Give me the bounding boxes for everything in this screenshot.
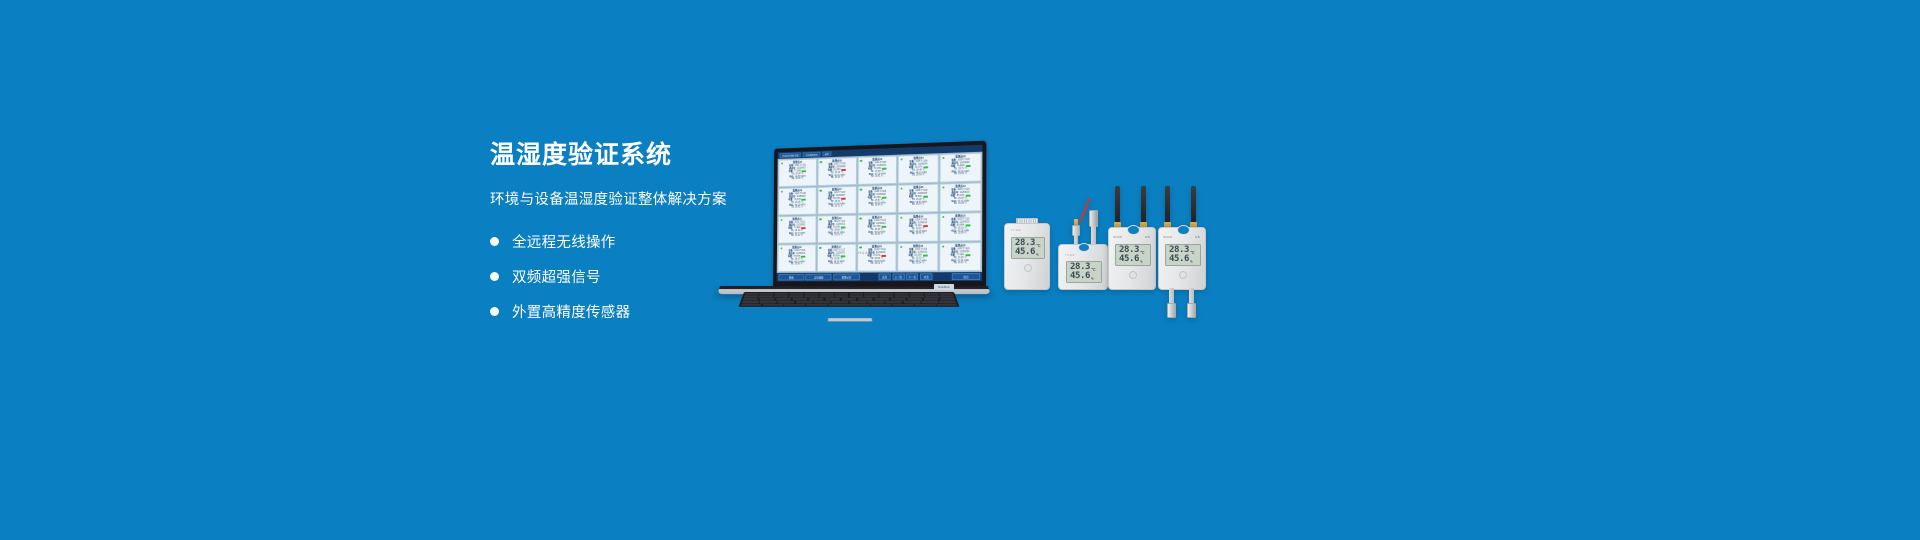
keyboard-key [867,301,884,303]
row-key: T2: [871,205,874,208]
keyboard-key [762,304,783,306]
card-data-row: T2:25.38 ℃ [942,203,979,207]
bullet-icon [490,272,499,281]
humidity-value: 45.6 [1070,272,1090,281]
row-key: T2: [870,263,873,266]
monitoring-card[interactable]: 监测点04设备:1004-TY104通道号:11250004电量:83.17%T… [898,154,939,184]
card-data-row: T2:25.44 ℃ [860,205,895,209]
app-bottom-toolbar: 数据实时曲线报警记录首页上一页下一页末页退出 [777,272,982,281]
topbar-tab-1[interactable]: 历史数据查询 [803,151,820,157]
card-data-row: T2:25.62 ℃ [859,263,894,266]
row-value: 25.22 ℃ [795,207,803,210]
device-power-button[interactable] [1129,271,1137,279]
device-body: INGW MB 28.3 ℃ 45.6 % [1108,227,1156,290]
device-model-tag: INGW [1163,235,1172,239]
monitoring-card[interactable]: 监测点10设备:1010-TY110通道号:11250010电量:84.22%T… [940,182,982,212]
toolbar-button-2[interactable]: 报警记录 [833,274,860,280]
row-key: T2: [954,174,957,177]
row-key: T2: [871,176,874,179]
humidity-value: 45.6 [1169,255,1189,264]
antenna-icon [1141,186,1146,224]
monitoring-card[interactable]: 监测点17设备:1017-TY117通道号:11250017电量:80.91%T… [817,244,856,272]
laptop-trackpad [828,318,873,322]
card-data-row: T2:25.04 ℃ [900,263,936,266]
keyboard-key [759,298,775,300]
keyboard-key [939,301,956,303]
row-key: T2: [830,263,833,266]
humidity-unit: % [1140,260,1142,264]
card-data-row: T2:25.22 ℃ [780,206,814,209]
device-dual-antenna-logger-right: INGW MB 28.3 ℃ 45.6 % [1158,186,1206,318]
row-key: T2: [830,235,833,238]
humidity-value: 45.6 [1015,248,1035,257]
monitoring-card[interactable]: 监测点02设备:1002-TY102通道号:11250002电量:81.05%T… [817,157,856,186]
card-data-row: T2:25.41 ℃ [819,263,854,266]
lcd-humidity-line: 45.6 % [1169,255,1200,264]
keyboard-key [850,301,867,303]
keyboard-key [921,301,938,303]
keyboard-key [825,298,840,300]
device-lcd-display: 28.3 ℃ 45.6 % [1165,244,1201,266]
row-key: T2: [912,175,915,178]
row-key: T2: [791,235,794,238]
card-data-row: T2:25.07 ℃ [900,204,936,208]
device-dual-antenna-logger-left: INGW MB 28.3 ℃ 45.6 % [1108,186,1156,290]
keyboard-key [832,301,849,303]
monitoring-card[interactable]: 监测点13设备:1013-TY113通道号:11250013电量:81.74%T… [857,214,897,243]
keyboard-key [814,301,831,303]
device-body: INGW MB 28.3 ℃ 45.6 % [1158,227,1206,290]
row-value: 25.60 ℃ [958,173,967,176]
feature-label: 全远程无线操作 [512,231,616,252]
humidity-unit: % [1036,253,1038,257]
keyboard-key [841,298,856,300]
row-key: T2: [831,206,834,209]
keyboard-row [741,301,956,303]
laptop-illustration: 设备列表 数据 监测历史数据查询报警 监测点01设备:1001-TY101通道号… [718,140,990,300]
hero-banner: 温湿度验证系统 环境与设备温湿度验证整体解决方案 全远程无线操作 双频超强信号 … [0,0,1920,540]
card-data-row: T2:25.31 ℃ [942,262,979,265]
row-key: T2: [912,263,915,266]
toolbar-button-4[interactable]: 首页 [878,274,890,280]
row-value: 25.19 ℃ [916,175,925,178]
row-key: T2: [831,177,834,180]
card-data-row: T2:25.11 ℃ [820,206,854,209]
laptop-lid: 设备列表 数据 监测历史数据查询报警 监测点01设备:1001-TY101通道号… [773,141,986,290]
row-value: 25.50 ℃ [875,234,883,237]
monitoring-card[interactable]: 监测点12设备:1012-TY112通道号:11250012电量:79.10%T… [817,215,856,243]
status-dot-icon [820,161,822,164]
card-data-row: T2:25.15 ℃ [819,234,853,237]
keyboard-key [808,298,823,300]
probe-filter-head [1187,303,1196,318]
row-value: 25.26 ℃ [795,264,803,267]
status-dot-icon [859,246,861,249]
keyboard-key [914,304,935,306]
card-data-row: T2:25.50 ℃ [859,234,894,237]
row-value: 25.01 ℃ [875,176,883,179]
card-data-row: T2:25.73 ℃ [900,233,936,236]
monitoring-card[interactable]: 监测点07设备:1007-TY107通道号:11250007电量:80.46%T… [817,186,856,215]
antenna-icon [1191,186,1196,224]
toolbar-spacer [861,274,877,280]
keyboard-key [893,304,914,306]
device-lcd-display: 28.3 ℃ 45.6 % [1011,237,1045,259]
device-brand-label: TY-200 [1065,254,1074,257]
monitoring-card[interactable]: 监测点15设备:1015-TY115通道号:11250015电量:83.58%T… [940,212,982,241]
toolbar-spacer [934,273,950,279]
card-data-row: T2:25.60 ℃ [942,173,979,177]
device-power-button[interactable] [1179,271,1187,279]
keyboard-row [743,298,956,300]
lcd-humidity-line: 45.6 % [1119,255,1150,264]
keyboard-key [784,304,805,306]
row-key: T2: [954,263,957,266]
keyboard-key [775,298,791,300]
keyboard-key [874,298,889,300]
laptop-sticker: MateBook [934,284,954,290]
keyboard-key [792,298,808,300]
row-value: 25.31 ℃ [958,263,967,266]
lcd-humidity-line: 45.6 % [1015,248,1044,257]
card-title: 监测点18 [859,246,894,249]
keyboard-key [890,298,906,300]
keyboard-key [858,298,873,300]
toolbar-button-0[interactable]: 数据 [778,274,804,280]
row-value: 25.08 ℃ [795,178,803,181]
humidity-value: 45.6 [1119,255,1139,264]
status-dot-icon [860,188,862,191]
card-data-row: T2:25.19 ℃ [900,174,936,178]
card-title: 监测点20 [942,245,979,248]
monitoring-card[interactable]: 监测点08设备:1008-TY108通道号:11250008电量:82.09%T… [857,185,897,214]
card-data-row: T2:25.01 ℃ [860,176,895,180]
probe-filter-head [1167,303,1176,318]
keyboard-key [907,298,923,300]
device-brand-label: TY-100 [1011,229,1020,232]
antenna-icon [1165,186,1170,224]
keyboard-key [871,304,892,306]
laptop-keyboard [738,292,959,307]
row-value: 25.11 ℃ [835,206,843,209]
toolbar-button-1[interactable]: 实时曲线 [806,274,832,280]
row-value: 25.07 ℃ [916,204,925,207]
monitoring-card[interactable]: 监测点01设备:1001-TY101通道号:11250001电量:77.20%T… [778,159,816,188]
row-value: 25.15 ℃ [834,235,842,238]
row-value: 25.04 ℃ [916,263,925,266]
device-wall-mount-logger: TY-100 28.3 ℃ 45.6 % [1004,218,1050,290]
monitoring-card[interactable]: 监测点19设备:1019-TY119通道号:11250019电量:82.63%T… [898,243,939,272]
row-value: 25.29 ℃ [795,235,803,238]
card-data-row: T2:25.29 ℃ [780,235,814,238]
bullet-icon [490,237,499,246]
device-external-probe-logger: TY-200 28.3 ℃ 45.6 % [1058,196,1108,290]
toolbar-button-6[interactable]: 下一页 [906,274,919,280]
keyboard-key [806,304,827,306]
row-value: 25.41 ℃ [834,263,842,266]
card-data-row: T2:25.08 ℃ [781,178,815,182]
laptop-brand-logo: HUAWEI [858,250,877,255]
row-key: T2: [791,264,794,267]
row-key: T2: [912,204,915,207]
device-body: TY-100 28.3 ℃ 45.6 % [1004,223,1050,290]
monitoring-card-grid: 监测点01设备:1001-TY101通道号:11250001电量:77.20%T… [777,152,983,273]
device-channel-tag: MB [1195,235,1200,239]
monitoring-card[interactable]: 监测点18设备:1018-TY118通道号:11250018电量:75.27%T… [857,243,897,271]
keyboard-key [796,301,813,303]
status-dot-icon [819,218,821,221]
probe-filter-head [1089,210,1098,227]
keyboard-key [743,298,759,300]
keyboard-key [760,301,777,303]
monitoring-card[interactable]: 监测点06设备:1006-TY106通道号:11250006电量:78.31%T… [778,187,816,215]
antenna-icon [1115,186,1120,224]
device-body: TY-200 28.3 ℃ 45.6 % [1058,244,1108,290]
status-dot-icon [819,246,821,249]
keyboard-key [903,301,920,303]
keyboard-key [828,304,869,306]
feature-label: 双频超强信号 [512,266,601,287]
keyboard-key [940,298,956,300]
monitoring-card[interactable]: 监测点09设备:1009-TY109通道号:11250009电量:75.63%T… [898,184,939,213]
device-lcd-display: 28.3 ℃ 45.6 % [1115,244,1151,266]
mounting-loop-icon [1177,225,1190,235]
row-key: T2: [871,234,874,237]
humidity-unit: % [1091,277,1093,281]
laptop-screen: 设备列表 数据 监测历史数据查询报警 监测点01设备:1001-TY101通道号… [777,145,983,282]
lcd-humidity-line: 45.6 % [1070,272,1101,281]
keyboard-key [885,301,902,303]
monitoring-card[interactable]: 监测点11设备:1011-TY111通道号:11250011电量:77.95%T… [778,216,816,244]
toolbar-button-9[interactable]: 退出 [952,273,980,280]
row-value: 25.33 ℃ [835,177,843,180]
row-value: 25.73 ℃ [916,233,925,236]
device-model-tag: INGW [1113,235,1122,239]
monitoring-card[interactable]: 监测点16设备:1016-TY116通道号:11250016电量:78.84%T… [778,244,816,272]
toolbar-button-7[interactable]: 末页 [920,273,933,279]
row-key: T2: [791,207,794,210]
row-value: 25.44 ℃ [875,205,883,208]
card-title: 监测点16 [780,247,814,250]
device-lcd-display: 28.3 ℃ 45.6 % [1066,261,1102,283]
humidity-unit: % [1190,260,1192,264]
topbar-tab-2[interactable]: 报警 [822,151,831,157]
row-key: T2: [912,234,915,237]
device-power-button[interactable] [1024,264,1032,272]
mounting-loop-icon [1127,225,1140,235]
card-data-row: T2:25.09 ℃ [942,233,979,236]
row-value: 25.38 ℃ [958,203,967,206]
status-dot-icon [820,189,822,192]
row-key: T2: [954,233,957,236]
keyboard-key [741,301,758,303]
card-title: 监测点19 [900,245,936,248]
monitoring-card[interactable]: 监测点14设备:1014-TY114通道号:11250014电量:76.32%T… [898,213,939,242]
row-value: 25.09 ℃ [958,233,967,236]
device-channel-tag: MB [1145,235,1150,239]
card-data-row: T2:25.26 ℃ [780,264,814,267]
row-key: T2: [791,179,794,182]
status-dot-icon [859,217,861,220]
feature-label: 外置高精度传感器 [512,301,630,322]
card-data-row: T2:25.33 ℃ [820,177,854,181]
keyboard-row [740,304,957,306]
keyboard-key [778,301,795,303]
status-dot-icon [860,159,862,162]
monitoring-card[interactable]: 监测点20设备:1020-TY120通道号:11250020电量:77.49%T… [939,242,981,271]
monitoring-card[interactable]: 监测点05设备:1005-TY105通道号:11250005电量:76.88%T… [940,153,982,183]
row-key: T2: [954,203,957,206]
mounting-loop-icon [1078,243,1090,252]
monitoring-card[interactable]: 监测点03设备:1003-TY103通道号:11250003电量:79.44%T… [857,156,897,185]
toolbar-button-5[interactable]: 上一页 [892,274,904,280]
row-value: 25.62 ℃ [875,263,883,266]
card-title: 监测点17 [819,246,854,249]
keyboard-key [923,298,939,300]
bullet-icon [490,307,499,316]
keyboard-key [936,304,957,306]
keyboard-key [740,304,761,306]
